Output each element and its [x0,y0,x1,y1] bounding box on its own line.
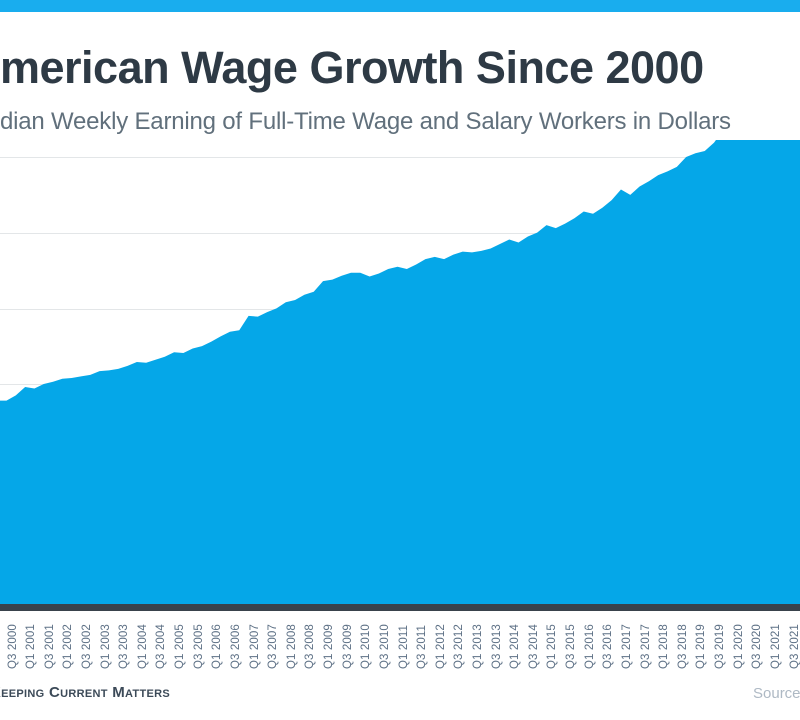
top-accent-bar [0,0,800,12]
brand-label: Keeping Current Matters [0,684,170,701]
x-tick-label: Q1 2013 [472,624,484,669]
x-tick-label: Q3 2011 [416,625,428,669]
x-tick-label: Q3 2013 [491,624,503,669]
x-tick-label: Q3 2003 [118,624,130,669]
x-tick-label: Q1 2010 [360,624,372,669]
wage-area-series [0,140,800,604]
x-tick-label: Q3 2015 [565,624,577,669]
x-tick-label: Q1 2014 [509,624,521,669]
x-tick-label: Q1 2008 [286,624,298,669]
x-tick-label: Q3 2008 [304,624,316,669]
x-tick-label: Q3 2019 [714,624,726,669]
x-tick-label: Q3 2004 [155,624,167,669]
x-tick-label: Q1 2006 [211,624,223,669]
x-tick-label: Q1 2001 [25,624,37,669]
x-tick-label: Q1 2003 [100,624,112,669]
x-tick-label: Q3 2018 [677,624,689,669]
chart-header: American Wage Growth Since 2000 Median W… [0,12,800,140]
x-tick-label: Q3 2002 [81,624,93,669]
x-tick-label: Q1 2018 [658,624,670,669]
x-tick-label: Q3 2000 [7,624,19,669]
x-tick-label: Q3 2017 [640,624,652,669]
x-tick-label: Q1 2002 [62,624,74,669]
x-tick-label: Q3 2021 [789,624,800,669]
x-tick-label: Q1 2012 [435,624,447,669]
x-tick-label: Q3 2009 [342,624,354,669]
source-label: Source [753,685,800,702]
x-tick-label: Q1 2004 [137,624,149,669]
infographic-root: American Wage Growth Since 2000 Median W… [0,0,800,720]
x-tick-label: Q1 2005 [174,624,186,669]
x-tick-label: Q1 2011 [398,625,410,669]
x-tick-label: Q1 2021 [770,624,782,669]
x-tick-label: Q3 2001 [44,624,56,669]
x-tick-label: Q3 2010 [379,624,391,669]
chart-plot-area [0,140,800,604]
x-tick-label: Q3 2020 [751,624,763,669]
x-tick-label: Q3 2016 [602,624,614,669]
x-tick-label: Q1 2016 [584,624,596,669]
x-tick-label: Q3 2012 [453,624,465,669]
chart-footer: Keeping Current Matters Source [0,673,800,720]
x-tick-label: Q3 2005 [193,624,205,669]
x-tick-label: Q3 2014 [528,624,540,669]
x-tick-label: Q1 2009 [323,624,335,669]
x-tick-label: Q1 2015 [546,624,558,669]
x-axis-tick-labels: Q3 2000Q1 2001Q3 2001Q1 2002Q3 2002Q1 20… [0,611,800,673]
x-tick-label: Q1 2017 [621,624,633,669]
x-axis-baseline [0,604,800,611]
x-tick-label: Q1 2019 [695,624,707,669]
chart-title: American Wage Growth Since 2000 [0,42,704,94]
area-fill-path [0,140,800,604]
x-tick-label: Q1 2020 [733,624,745,669]
x-tick-label: Q1 2007 [249,624,261,669]
chart-subtitle: Median Weekly Earning of Full-Time Wage … [0,108,731,136]
x-tick-label: Q3 2007 [267,624,279,669]
x-tick-label: Q3 2006 [230,624,242,669]
